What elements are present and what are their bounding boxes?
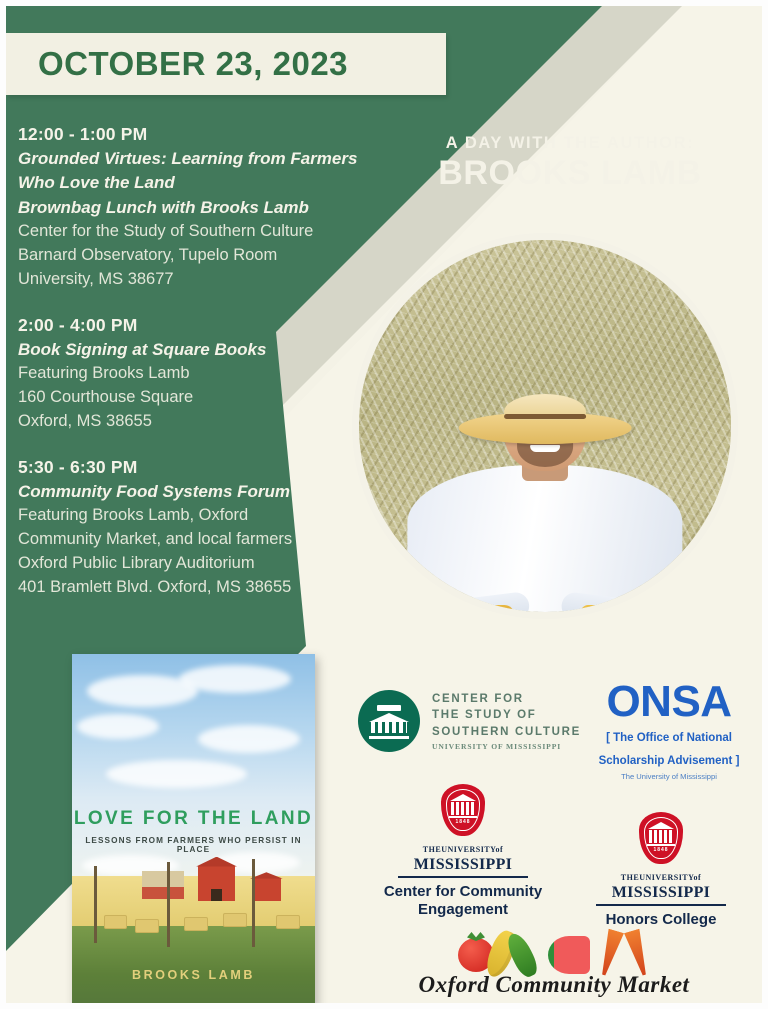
book-barn-door <box>211 889 221 901</box>
logo-honors-college: 1848 THEUNIVERSITYof MISSISSIPPI Honors … <box>568 812 754 929</box>
work-glove-left <box>473 605 514 612</box>
schedule-detail: Featuring Brooks Lamb, Oxford <box>18 504 378 528</box>
logo-center-community-engagement: 1848 THEUNIVERSITYof MISSISSIPPI Center … <box>370 784 556 919</box>
hay-bale <box>223 913 247 927</box>
cloud <box>198 725 300 753</box>
schedule-title: Book Signing at Square Books <box>18 338 378 362</box>
cssc-line-3: SOUTHERN CULTURE <box>432 724 581 740</box>
schedule-item: 12:00 - 1:00 PM Grounded Virtues: Learni… <box>18 122 378 292</box>
work-glove-right <box>581 605 622 612</box>
seal-columns <box>371 722 407 733</box>
um-university: UNIVERSITY <box>441 845 495 854</box>
book-title: LOVE FOR THE LAND <box>72 808 315 830</box>
crest-columns <box>649 830 673 843</box>
portrait-image <box>359 240 731 612</box>
author-headline: A DAY WITH THE AUTHOR: BROOKS LAMB <box>410 134 730 192</box>
um-wordmark: THEUNIVERSITYof MISSISSIPPI <box>370 839 556 873</box>
observatory-icon <box>369 705 409 737</box>
ocm-vegetable-letters <box>418 928 690 976</box>
schedule-detail: Community Market, and local farmers <box>18 528 378 552</box>
seal-pediment <box>369 713 409 722</box>
um-the: THE <box>423 845 441 854</box>
onsa-acronym: ONSA <box>578 680 760 724</box>
carrot-icon-right <box>624 929 652 978</box>
book-cover: LOVE FOR THE LAND LESSONS FROM FARMERS W… <box>72 654 315 1003</box>
date-text: OCTOBER 23, 2023 <box>38 45 348 83</box>
straw-hat-band <box>504 414 587 419</box>
seal-base <box>369 736 409 739</box>
fence-post <box>252 859 255 947</box>
schedule-detail: Oxford Public Library Auditorium <box>18 552 378 576</box>
book-barn <box>198 866 234 901</box>
seal-cupola <box>377 705 401 711</box>
um-university: UNIVERSITY <box>639 873 693 882</box>
schedule-title: Who Love the Land <box>18 171 378 195</box>
onsa-institution: The University of Mississippi <box>578 772 760 781</box>
logo-onsa: ONSA [ The Office of National Scholarshi… <box>578 680 760 781</box>
author-kicker: A DAY WITH THE AUTHOR: <box>410 134 730 153</box>
crest-plinth <box>449 816 477 818</box>
um-state: MISSISSIPPI <box>568 885 754 901</box>
crest-columns <box>451 802 475 815</box>
poster-canvas: OCTOBER 23, 2023 12:00 - 1:00 PM Grounde… <box>6 6 762 1003</box>
carrot-icon-left <box>596 929 624 978</box>
um-wordmark: THEUNIVERSITYof MISSISSIPPI <box>568 867 754 901</box>
schedule-item: 5:30 - 6:30 PM Community Food Systems Fo… <box>18 455 378 600</box>
cssc-line-1: CENTER FOR <box>432 691 581 707</box>
poster: OCTOBER 23, 2023 12:00 - 1:00 PM Grounde… <box>0 0 768 1009</box>
author-name: BROOKS LAMB <box>410 156 730 192</box>
um-divider <box>596 904 726 906</box>
fence-post <box>94 866 97 944</box>
cssc-wordmark: CENTER FOR THE STUDY OF SOUTHERN CULTURE… <box>432 691 581 751</box>
schedule-item: 2:00 - 4:00 PM Book Signing at Square Bo… <box>18 313 378 434</box>
logo-center-study-southern-culture: CENTER FOR THE STUDY OF SOUTHERN CULTURE… <box>358 690 581 752</box>
schedule-detail: Center for the Study of Southern Culture <box>18 220 378 244</box>
book-shed-base <box>142 887 183 899</box>
um-unit-line-1: Center for Community <box>370 883 556 901</box>
book-author: BROOKS LAMB <box>72 968 315 982</box>
schedule-title: Brownbag Lunch with Brooks Lamb <box>18 196 378 220</box>
book-barn-small <box>252 878 281 901</box>
logo-oxford-community-market: Oxford Community Market <box>418 928 690 998</box>
book-shed <box>142 871 183 899</box>
um-of: of <box>694 873 702 882</box>
schedule-detail: Featuring Brooks Lamb <box>18 362 378 386</box>
um-the: THE <box>621 873 639 882</box>
hay-bale <box>104 915 128 929</box>
cloud <box>179 665 291 693</box>
cssc-line-2: THE STUDY OF <box>432 707 581 723</box>
author-portrait <box>352 233 738 619</box>
smile <box>530 445 560 452</box>
hay-bale <box>135 919 159 933</box>
crest-year: 1848 <box>639 847 683 853</box>
person-figure <box>359 389 731 612</box>
onsa-expanded-line-2: Scholarship Advisement ] <box>578 753 760 770</box>
um-state: MISSISSIPPI <box>370 857 556 873</box>
schedule-detail: 160 Courthouse Square <box>18 386 378 410</box>
schedule-detail: University, MS 38677 <box>18 268 378 292</box>
onsa-expanded-line-1: [ The Office of National <box>578 730 760 747</box>
watermelon-icon <box>548 936 590 974</box>
beard <box>517 440 573 467</box>
hay-bale <box>276 915 300 929</box>
sponsor-logos: CENTER FOR THE STUDY OF SOUTHERN CULTURE… <box>346 678 762 1003</box>
southern-culture-seal-icon <box>358 690 420 752</box>
um-divider <box>398 876 528 878</box>
schedule-detail: Barnard Observatory, Tupelo Room <box>18 244 378 268</box>
cssc-line-4: UNIVERSITY OF MISSISSIPPI <box>432 742 581 751</box>
schedule-detail: Oxford, MS 38655 <box>18 410 378 434</box>
cloud <box>77 714 160 739</box>
um-unit-line-2: Engagement <box>370 901 556 919</box>
um-unit-line-1: Honors College <box>568 911 754 929</box>
fence-post <box>167 862 170 947</box>
um-of: of <box>496 845 504 854</box>
hay-bale <box>184 917 208 931</box>
schedule-time: 2:00 - 4:00 PM <box>18 313 378 338</box>
date-banner: OCTOBER 23, 2023 <box>6 33 446 95</box>
book-subtitle: LESSONS FROM FARMERS WHO PERSIST IN PLAC… <box>72 836 315 854</box>
schedule-title: Community Food Systems Forum <box>18 480 378 504</box>
torso <box>407 465 682 612</box>
crest-plinth <box>647 844 675 846</box>
ole-miss-crest-icon: 1848 <box>441 784 485 836</box>
cloud <box>106 760 247 788</box>
schedule-title: Grounded Virtues: Learning from Farmers <box>18 147 378 171</box>
schedule-time: 12:00 - 1:00 PM <box>18 122 378 147</box>
schedule-detail: 401 Bramlett Blvd. Oxford, MS 38655 <box>18 576 378 600</box>
crest-year: 1848 <box>441 819 485 825</box>
schedule-time: 5:30 - 6:30 PM <box>18 455 378 480</box>
book-grass <box>72 926 315 1003</box>
ole-miss-crest-icon: 1848 <box>639 812 683 864</box>
schedule-list: 12:00 - 1:00 PM Grounded Virtues: Learni… <box>18 122 378 621</box>
